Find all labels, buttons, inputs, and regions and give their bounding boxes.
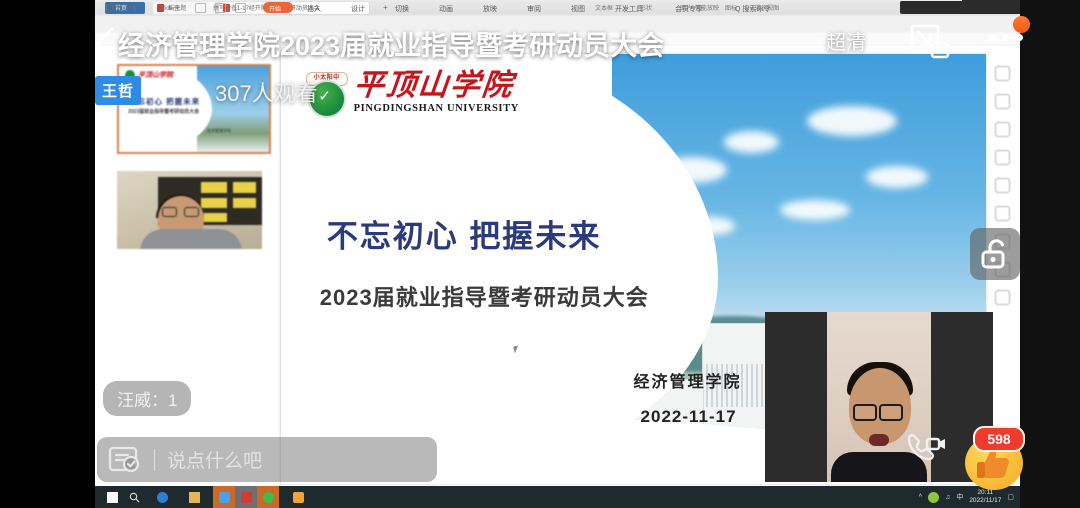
rail-icon-9[interactable] — [995, 290, 1010, 305]
slide-organization: 经济管理学院 — [634, 368, 742, 392]
subbar-box-1[interactable] — [195, 3, 206, 13]
taskbar-date: 2022/11/17 — [969, 497, 1001, 504]
recording-indicator-dot — [1013, 16, 1030, 33]
rail-icon-1[interactable] — [995, 66, 1010, 81]
ribbon-menu-review[interactable]: 审阅 — [527, 4, 541, 14]
rail-icon-5[interactable] — [995, 178, 1010, 193]
unlock-icon[interactable] — [970, 228, 1020, 280]
rail-icon-4[interactable] — [995, 150, 1010, 165]
rail-icon-2[interactable] — [995, 94, 1010, 109]
picture-in-picture-icon[interactable] — [908, 22, 952, 62]
more-options-icon[interactable] — [988, 34, 1023, 41]
ribbon-menu-view[interactable]: 视图 — [571, 4, 585, 14]
ime-icon[interactable]: 中 — [956, 492, 963, 502]
wechat-icon[interactable] — [257, 486, 279, 508]
viewer-count-label: 307人观看 — [215, 76, 318, 108]
edge-icon[interactable] — [151, 486, 173, 508]
windows-taskbar: ^ ♫ 中 20:11 2022/11/17 ▢ — [95, 486, 1020, 508]
live-stream-title: 经济管理学院2023届就业指导暨考研动员大会 — [118, 24, 664, 63]
file-explorer-icon[interactable] — [183, 486, 205, 508]
back-chevron-icon[interactable] — [92, 26, 118, 60]
like-count-badge: 598 — [973, 426, 1025, 452]
subbar-textbox[interactable]: 文本框 — [595, 3, 613, 12]
windows-start-icon[interactable] — [101, 486, 123, 508]
ribbon-menu-transition[interactable]: 切换 — [395, 4, 409, 14]
presenter-video[interactable] — [765, 312, 993, 482]
ribbon-tab-start-label: 开始 — [269, 4, 281, 13]
shield-icon[interactable] — [928, 492, 939, 503]
university-logo: 小太阳中 ✓ 平顶山学院 PINGDINGSHAN UNIVERSITY — [306, 71, 519, 114]
ribbon-tab-start[interactable]: 开始 — [263, 2, 293, 13]
ribbon-menu-devtools[interactable]: 开发工具 — [615, 4, 643, 14]
rail-icon-3[interactable] — [995, 122, 1010, 137]
notification-icon[interactable]: ▢ — [1007, 493, 1014, 501]
subbar-icon[interactable]: 图标 — [725, 3, 737, 12]
video-quality-button[interactable]: 超清 — [826, 26, 866, 55]
slide-date: 2022-11-17 — [641, 407, 737, 427]
search-icon[interactable] — [123, 486, 145, 508]
university-name-en: PINGDINGSHAN UNIVERSITY — [354, 103, 519, 114]
chat-divider — [154, 449, 155, 471]
host-name-badge: 王哲 — [95, 76, 141, 105]
chevron-up-icon[interactable]: ^ — [919, 494, 922, 501]
volume-icon[interactable]: ♫ — [945, 494, 950, 501]
status-theme: Office 主题 — [157, 3, 186, 505]
ribbon-menu-animation[interactable]: 动画 — [439, 4, 453, 14]
letterbox-left — [0, 0, 95, 508]
slide-subtitle: 2023届就业指导暨考研动员大会 — [320, 280, 649, 312]
university-name-cn: 平顶山学院 — [352, 71, 520, 101]
subbar-shape[interactable]: 形状 — [640, 3, 652, 12]
status-smart-show[interactable]: 智能放映 — [695, 3, 719, 505]
ribbon-menu-slideshow[interactable]: 放映 — [483, 4, 497, 14]
pdf-icon[interactable] — [235, 486, 257, 508]
chat-input-placeholder: 说点什么吧 — [167, 446, 262, 473]
ribbon-menu-design[interactable]: 设计 — [351, 4, 365, 14]
wps-icon[interactable] — [213, 486, 235, 508]
like-button[interactable]: 598 — [965, 428, 1027, 490]
chat-input-bar[interactable]: 说点什么吧 — [97, 437, 437, 482]
status-dark-block — [962, 0, 1020, 14]
webcam-preview-thumbnail[interactable] — [117, 171, 262, 249]
video-call-icon[interactable] — [905, 430, 947, 464]
taskbar-clock[interactable]: 20:11 2022/11/17 — [969, 489, 1001, 505]
taskbar-time: 20:11 — [977, 489, 993, 496]
rail-icon-6[interactable] — [995, 206, 1010, 221]
ribbon-menu-insert[interactable]: 插入 — [307, 4, 321, 14]
live-stream-screen: 首页 稻壳 11-17经开院...体暨考研动员大会 + 0%21:37 | 盘未… — [0, 0, 1080, 508]
slide-main-title: 不忘初心 把握未来 — [327, 211, 602, 256]
subbar-picture[interactable]: 图片 — [680, 3, 692, 12]
chat-message: 汪威：1 — [103, 381, 191, 416]
card-check-icon[interactable] — [108, 446, 142, 473]
wps-new-tab-button[interactable]: + — [383, 3, 388, 12]
notes-icon[interactable] — [287, 486, 309, 508]
